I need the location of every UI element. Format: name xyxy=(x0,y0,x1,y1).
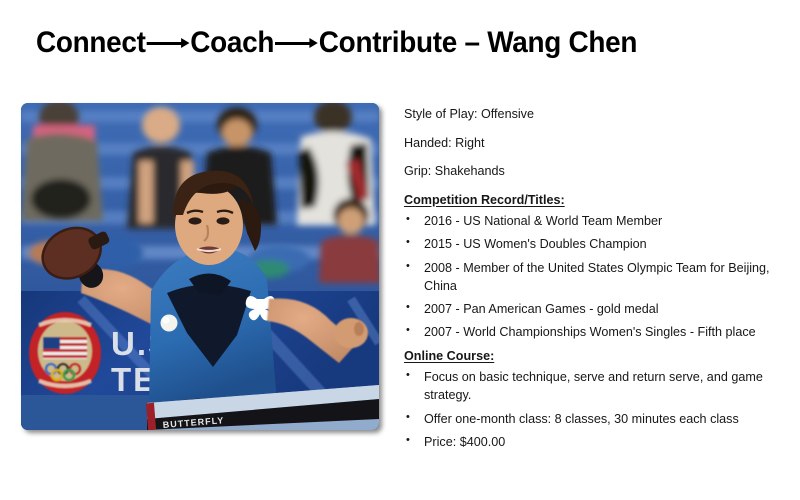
player-photo-graphic: U.S. OL TEAM xyxy=(21,103,379,430)
list-item: Offer one-month class: 8 classes, 30 min… xyxy=(404,411,796,429)
list-item: 2008 - Member of the United States Olymp… xyxy=(404,260,796,296)
list-item: Price: $400.00 xyxy=(404,434,796,452)
online-course-list: Focus on basic technique, serve and retu… xyxy=(404,369,796,453)
list-item: 2007 - World Championships Women's Singl… xyxy=(404,324,796,342)
arrow-right-icon-1 xyxy=(147,36,190,50)
list-item: 2016 - US National & World Team Member xyxy=(404,213,796,231)
list-item: Focus on basic technique, serve and retu… xyxy=(404,369,796,405)
arrow-right-icon-2 xyxy=(275,36,318,50)
style-of-play-line: Style of Play: Offensive xyxy=(404,106,796,122)
list-item: 2015 - US Women's Doubles Champion xyxy=(404,236,796,254)
competition-record-list: 2016 - US National & World Team Member 2… xyxy=(404,213,796,342)
title-part-contribute: Contribute – Wang Chen xyxy=(319,26,637,59)
list-item: 2007 - Pan American Games - gold medal xyxy=(404,301,796,319)
competition-record-heading: Competition Record/Titles: xyxy=(404,192,796,208)
handed-line: Handed: Right xyxy=(404,135,796,151)
title-part-connect: Connect xyxy=(36,26,146,59)
player-info-column: Style of Play: Offensive Handed: Right G… xyxy=(404,106,796,458)
title-part-coach: Coach xyxy=(190,26,274,59)
online-course-heading: Online Course: xyxy=(404,348,796,364)
page-title: ConnectCoachContribute – Wang Chen xyxy=(36,26,637,60)
player-photo: U.S. OL TEAM xyxy=(21,103,379,430)
grip-line: Grip: Shakehands xyxy=(404,163,796,179)
